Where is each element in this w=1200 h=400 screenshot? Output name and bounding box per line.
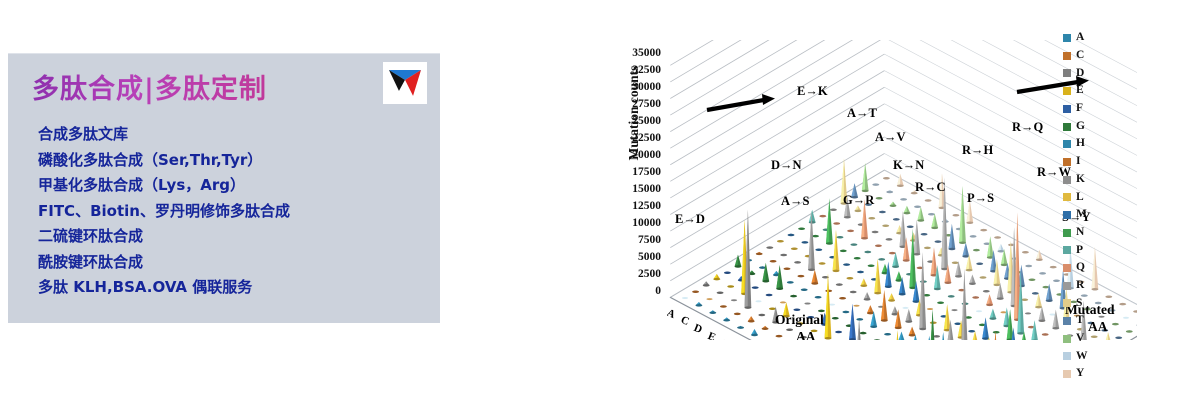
- cone-base: [847, 230, 854, 233]
- cone-base: [933, 335, 940, 338]
- cone-base: [969, 283, 976, 286]
- cone-base: [913, 300, 920, 303]
- cone-base: [935, 240, 942, 243]
- cone-base: [892, 266, 899, 269]
- legend-label: P: [1076, 245, 1083, 257]
- y-tick-label: 20000: [603, 150, 661, 162]
- legend-item-m[interactable]: M: [1063, 207, 1129, 223]
- cone-base: [762, 327, 769, 330]
- cone-base: [890, 204, 897, 207]
- cone-base: [1039, 272, 1046, 275]
- cone-base: [724, 272, 731, 275]
- legend-label: C: [1076, 50, 1084, 62]
- legend-item-k[interactable]: K: [1063, 172, 1129, 188]
- legend-item-c[interactable]: C: [1063, 48, 1129, 64]
- cone-base: [973, 249, 980, 252]
- cone-base: [868, 264, 875, 267]
- cone-base: [928, 213, 935, 216]
- cone-base: [948, 295, 955, 298]
- cone-base: [962, 255, 969, 258]
- cone-base: [798, 275, 805, 278]
- legend-swatch-icon: [1063, 370, 1071, 378]
- legend-label: R: [1076, 280, 1084, 292]
- cone-base: [745, 306, 752, 309]
- peak-annotation: A→V: [875, 130, 906, 145]
- y-tick-label: 32500: [603, 65, 661, 77]
- triangle-chevron-logo-icon: [387, 67, 423, 99]
- cone-base: [727, 285, 734, 288]
- cone-base: [861, 237, 868, 240]
- cone-base: [1046, 300, 1053, 303]
- cone-base: [864, 298, 871, 301]
- legend-swatch-icon: [1063, 176, 1071, 184]
- cone-base: [886, 238, 893, 241]
- peak-annotation: E→D: [675, 212, 705, 227]
- cone-base: [758, 314, 765, 317]
- legend-item-f[interactable]: F: [1063, 101, 1129, 117]
- cone-base: [980, 229, 987, 232]
- cone-base: [713, 278, 720, 281]
- legend-item-h[interactable]: H: [1063, 136, 1129, 152]
- peak-annotation: A→T: [847, 106, 877, 121]
- cone-base: [976, 263, 983, 266]
- cone-base: [703, 284, 710, 287]
- legend-swatch-icon: [1063, 211, 1071, 219]
- cone-base: [895, 327, 902, 330]
- legend-label: N: [1076, 227, 1084, 239]
- cone-base: [790, 295, 797, 298]
- cone-base: [856, 318, 863, 321]
- legend-item-p[interactable]: P: [1063, 242, 1129, 258]
- cone-base: [787, 281, 794, 284]
- cone-base: [850, 291, 857, 294]
- cone-base: [905, 320, 912, 323]
- y-tick-label: 17500: [603, 167, 661, 179]
- cone-base: [756, 253, 763, 256]
- company-logo: [383, 62, 427, 104]
- peak-annotation: R→H: [962, 143, 993, 158]
- cone-base: [717, 292, 724, 295]
- cone-base: [860, 332, 867, 335]
- cone-base: [889, 252, 896, 255]
- legend-swatch-icon: [1063, 69, 1071, 77]
- legend-label: Q: [1076, 262, 1085, 274]
- cone-base: [986, 304, 993, 307]
- legend-swatch-icon: [1063, 158, 1071, 166]
- cone-base: [1043, 286, 1050, 289]
- cone-base: [794, 261, 801, 264]
- legend-label: K: [1076, 174, 1085, 186]
- legend-swatch-icon: [1063, 193, 1071, 201]
- mutation-3d-chart: Mutation counts 025005000750010000125001…: [575, 10, 1195, 395]
- cone-base: [914, 206, 921, 209]
- cone-base: [1050, 266, 1057, 269]
- cone-base: [1036, 258, 1043, 261]
- cone-base: [830, 209, 837, 212]
- legend-item-w[interactable]: W: [1063, 348, 1129, 364]
- cone-base: [897, 184, 904, 187]
- cone-base: [959, 241, 966, 244]
- cone-base: [851, 243, 858, 246]
- legend-swatch-icon: [1063, 352, 1071, 360]
- legend-item-a[interactable]: A: [1063, 30, 1129, 46]
- legend-item-q[interactable]: Q: [1063, 260, 1129, 276]
- cone-base: [980, 276, 987, 279]
- cone-base: [794, 309, 801, 312]
- list-item: 二硫键环肽合成: [38, 224, 428, 250]
- legend-swatch-icon: [1063, 123, 1071, 131]
- cone-base: [811, 282, 818, 285]
- cone-base: [808, 269, 815, 272]
- y-tick-label: 0: [603, 286, 661, 298]
- cone-base: [954, 323, 961, 326]
- legend-swatch-icon: [1063, 246, 1071, 254]
- legend-item-y[interactable]: Y: [1063, 366, 1129, 382]
- legend-swatch-icon: [1063, 282, 1071, 290]
- cone-base: [723, 319, 730, 322]
- cone-base: [780, 254, 787, 257]
- legend-item-l[interactable]: L: [1063, 189, 1129, 205]
- legend-item-e[interactable]: E: [1063, 83, 1129, 99]
- peak-annotation: P→S: [967, 191, 994, 206]
- list-item: FITC、Biotin、罗丹明修饰多肽合成: [38, 199, 428, 225]
- cone-base: [899, 293, 906, 296]
- cone-base: [786, 329, 793, 332]
- cone-base: [1039, 320, 1046, 323]
- y-tick-label: 22500: [603, 133, 661, 145]
- cone-base: [997, 297, 1004, 300]
- cone-base: [874, 292, 881, 295]
- cone-base: [896, 279, 903, 282]
- legend-swatch-icon: [1063, 105, 1071, 113]
- cone-base: [854, 257, 861, 260]
- cone-base: [934, 288, 941, 291]
- cone-base: [900, 198, 907, 201]
- cone-base: [1042, 333, 1049, 336]
- cone-base: [1022, 251, 1029, 254]
- cone-base: [990, 317, 997, 320]
- legend-label: S: [1076, 298, 1082, 310]
- peak-annotation: E→K: [797, 84, 828, 99]
- cone-base: [815, 249, 822, 252]
- cone-base: [893, 218, 900, 221]
- cone-base: [788, 234, 795, 237]
- cone-base: [924, 247, 931, 250]
- cone-base: [867, 312, 874, 315]
- cone-base: [1017, 332, 1024, 335]
- legend-item-i[interactable]: I: [1063, 154, 1129, 170]
- cone-base: [1052, 327, 1059, 330]
- legend-swatch-icon: [1063, 264, 1071, 272]
- y-tick-label: 35000: [603, 48, 661, 60]
- cone-base: [907, 226, 914, 229]
- legend-label: F: [1076, 103, 1083, 115]
- legend-label: H: [1076, 138, 1085, 150]
- trend-arrow-left: [707, 94, 775, 110]
- promo-panel: 多肽合成|多肽定制 合成多肽文库 磷酸化多肽合成（Ser,Thr,Tyr） 甲基…: [8, 53, 440, 323]
- cone-base: [843, 263, 850, 266]
- cone-base: [833, 222, 840, 225]
- legend-item-s[interactable]: S: [1063, 295, 1129, 311]
- legend-item-g[interactable]: G: [1063, 118, 1129, 134]
- cone-base: [870, 326, 877, 329]
- legend-swatch-icon: [1063, 34, 1071, 42]
- cone-base: [847, 277, 854, 280]
- legend-label: L: [1076, 192, 1084, 204]
- cone-base: [857, 271, 864, 274]
- cone-base: [855, 210, 862, 213]
- y-tick-label: 25000: [603, 116, 661, 128]
- cone-base: [836, 283, 843, 286]
- cone-base: [1032, 292, 1039, 295]
- y-axis-ticks: 0250050007500100001250015000175002000022…: [603, 48, 661, 298]
- cone-base: [864, 251, 871, 254]
- cone-base: [748, 320, 755, 323]
- peak-annotation: R→Q: [1012, 120, 1043, 135]
- cone-base: [925, 199, 932, 202]
- list-item: 磷酸化多肽合成（Ser,Thr,Tyr）: [38, 148, 428, 174]
- y-tick-label: 2500: [603, 269, 661, 281]
- cone-base: [709, 312, 716, 315]
- legend-label: M: [1076, 209, 1087, 221]
- cone-base: [955, 275, 962, 278]
- cone-base: [734, 313, 741, 316]
- cone-base: [833, 270, 840, 273]
- cone-base: [921, 233, 928, 236]
- cone-base: [802, 241, 809, 244]
- y-tick-label: 12500: [603, 201, 661, 213]
- cone-base: [1035, 306, 1042, 309]
- legend-item-d[interactable]: D: [1063, 65, 1129, 81]
- cone-base: [766, 246, 773, 249]
- cone-base: [982, 337, 989, 340]
- legend-item-t[interactable]: T: [1063, 313, 1129, 329]
- cone-base: [945, 281, 952, 284]
- service-list: 合成多肽文库 磷酸化多肽合成（Ser,Thr,Tyr） 甲基化多肽合成（Lys，…: [38, 122, 428, 301]
- legend-label: E: [1076, 85, 1084, 97]
- cone-base: [884, 333, 891, 336]
- legend-swatch-icon: [1063, 87, 1071, 95]
- cone-base: [815, 296, 822, 299]
- y-tick-label: 10000: [603, 218, 661, 230]
- legend-swatch-icon: [1063, 140, 1071, 148]
- cone-base: [937, 301, 944, 304]
- y-tick-label: 27500: [603, 99, 661, 111]
- cone-base: [868, 217, 875, 220]
- cone-base: [791, 247, 798, 250]
- cone-base: [769, 307, 776, 310]
- legend-label: T: [1076, 315, 1084, 327]
- cone-base: [1021, 298, 1028, 301]
- cone-base: [904, 212, 911, 215]
- cone-highlight: [862, 163, 865, 191]
- cone-base: [737, 326, 744, 329]
- cone-base: [720, 305, 727, 308]
- cone-base: [882, 224, 889, 227]
- cone-base: [752, 286, 759, 289]
- cone-base: [998, 250, 1005, 253]
- legend-item-n[interactable]: N: [1063, 225, 1129, 241]
- list-item: 多肽 KLH,BSA.OVA 偶联服务: [38, 275, 428, 301]
- cone-base: [843, 311, 850, 314]
- x-axis-title: Original: [775, 312, 824, 328]
- cone-base: [872, 183, 879, 186]
- cone-base: [1029, 278, 1036, 281]
- cone-base: [919, 328, 926, 331]
- cone-base: [913, 253, 920, 256]
- cone-base: [837, 236, 844, 239]
- cone-base: [952, 261, 959, 264]
- peak-annotation: R→C: [915, 180, 946, 195]
- legend-swatch-icon: [1063, 299, 1071, 307]
- cone-base: [844, 216, 851, 219]
- cone-base: [993, 331, 1000, 334]
- y-tick-label: 5000: [603, 252, 661, 264]
- legend-label: D: [1076, 68, 1084, 80]
- cone-base: [751, 334, 758, 337]
- list-item: 甲基化多肽合成（Lys，Arg）: [38, 173, 428, 199]
- legend-swatch-icon: [1063, 52, 1071, 60]
- cone-base: [1025, 265, 1032, 268]
- y-tick-label: 30000: [603, 82, 661, 94]
- cone-base: [966, 221, 973, 224]
- cone-base: [840, 250, 847, 253]
- cone-base: [776, 335, 783, 338]
- page-title: 多肽合成|多肽定制: [32, 67, 267, 106]
- legend-label: A: [1076, 32, 1084, 44]
- legend-swatch-icon: [1063, 317, 1071, 325]
- cone-base: [886, 191, 893, 194]
- cone-base: [766, 294, 773, 297]
- cone-base: [777, 240, 784, 243]
- cone-base: [862, 190, 869, 193]
- cone-base: [819, 215, 826, 218]
- cone-base: [917, 219, 924, 222]
- peak-annotation: A→S: [781, 194, 809, 209]
- cone-base: [876, 197, 883, 200]
- y-tick-label: 7500: [603, 235, 661, 247]
- cone-base: [860, 284, 867, 287]
- cone-base: [953, 214, 960, 217]
- cone-base: [994, 236, 1001, 239]
- cone-base: [1053, 280, 1060, 283]
- cone-base: [798, 227, 805, 230]
- x-axis-title-2: AA: [796, 329, 816, 340]
- cone-base: [826, 242, 833, 245]
- cone-base: [812, 235, 819, 238]
- legend-swatch-icon: [1063, 335, 1071, 343]
- cone-base: [1001, 264, 1008, 267]
- cone-base: [983, 290, 990, 293]
- cone-base: [885, 286, 892, 289]
- cone-base: [762, 280, 769, 283]
- cone-base: [832, 317, 839, 320]
- cone-base: [735, 265, 742, 268]
- legend-label: V: [1076, 333, 1084, 345]
- legend-item-v[interactable]: V: [1063, 331, 1129, 347]
- cone-base: [696, 304, 703, 307]
- cone-base: [872, 231, 879, 234]
- cone-base: [888, 299, 895, 302]
- cone-base: [966, 269, 973, 272]
- legend-label: W: [1076, 351, 1088, 363]
- cone-base: [839, 297, 846, 300]
- cone-base: [835, 331, 842, 334]
- cone-base: [909, 334, 916, 337]
- cone-base: [825, 337, 832, 340]
- cone-base: [881, 319, 888, 322]
- cone-base: [692, 290, 699, 293]
- cone-base: [972, 296, 979, 299]
- legend-swatch-icon: [1063, 229, 1071, 237]
- legend-label: Y: [1076, 368, 1084, 380]
- list-item: 合成多肽文库: [38, 122, 428, 148]
- y-tick-label: 15000: [603, 184, 661, 196]
- peak-annotation: D→N: [771, 158, 802, 173]
- cone-base: [994, 284, 1001, 287]
- cone-base: [776, 287, 783, 290]
- legend-label: I: [1076, 156, 1080, 168]
- legend-item-r[interactable]: R: [1063, 278, 1129, 294]
- cone-base: [931, 227, 938, 230]
- cone-base: [879, 211, 886, 214]
- cone-base: [878, 258, 885, 261]
- cone-base: [970, 235, 977, 238]
- cone-base: [949, 248, 956, 251]
- cone-base: [883, 177, 890, 180]
- list-item: 酰胺键环肽合成: [38, 250, 428, 276]
- cone-base: [770, 260, 777, 263]
- legend-label: G: [1076, 121, 1085, 133]
- cone-base: [801, 289, 808, 292]
- cone-base: [875, 244, 882, 247]
- peak-annotation: K→N: [893, 158, 924, 173]
- cone-base: [903, 259, 910, 262]
- cone-base: [784, 267, 791, 270]
- screenshot-root: 多肽合成|多肽定制 合成多肽文库 磷酸化多肽合成（Ser,Thr,Tyr） 甲基…: [0, 0, 1200, 400]
- peak-annotation: G→R: [843, 193, 874, 208]
- cone-base: [968, 330, 975, 333]
- chart-legend: ACDEFGHIKLMNPQRSTVWY: [1063, 30, 1129, 382]
- cone-base: [819, 262, 826, 265]
